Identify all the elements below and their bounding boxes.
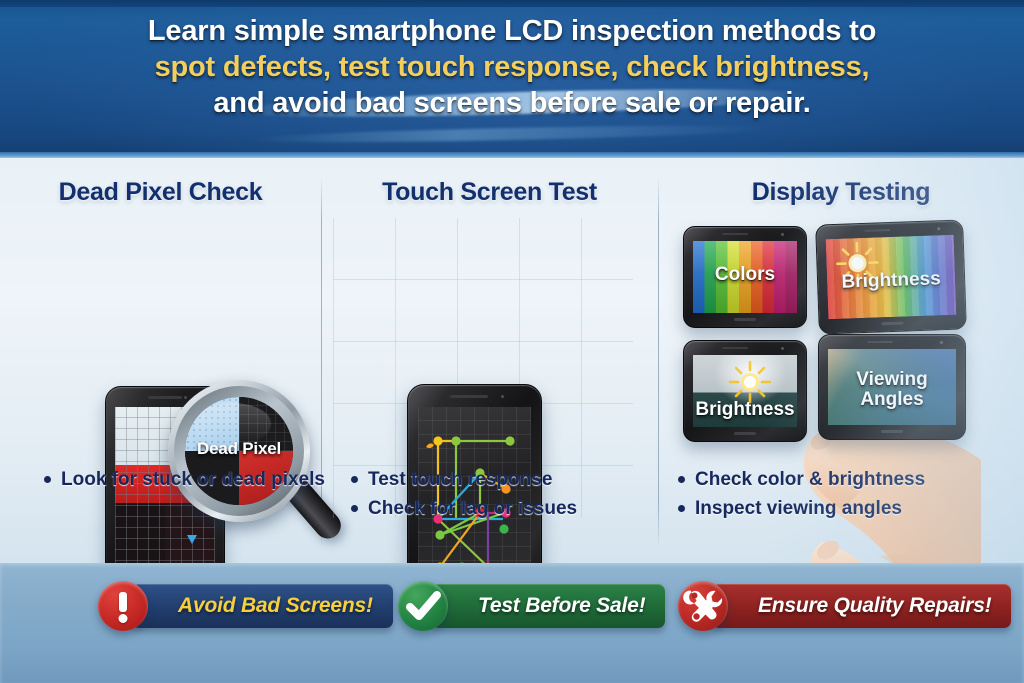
bullet-list-touch: Test touch response Check for lag or iss… [351,468,688,527]
tablet-speaker [722,233,748,235]
tablet-speaker [865,229,891,232]
header-swoosh-decoration-2 [250,123,770,146]
content-area: Dead Pixel Check [0,158,1024,563]
tablet-label-brightness-grey: Brightness [693,400,797,420]
wrench-screwdriver-glyph [678,581,728,631]
list-item: Test touch response [351,468,688,492]
bullet-text: Test touch response [368,468,552,492]
tablet-brightness-color: Brightness [815,219,967,334]
tablet-colors: Colors [683,226,807,328]
header-line-2: spot defects, test touch response, check… [0,50,1024,86]
tablet-speaker [722,347,748,349]
tablet-screen-brightness-color: Brightness [826,235,957,319]
bullet-dot-icon [678,505,685,512]
tablet-screen-colors: Colors [693,241,797,313]
magnifying-glass-icon: Dead Pixel [168,380,310,522]
bullet-text: Inspect viewing angles [695,497,902,521]
tablet-camera-icon [781,347,784,350]
bullet-list-dead-pixel: Look for stuck or dead pixels [44,468,365,497]
badge-pill[interactable]: Test Before Sale! [432,584,665,628]
phone-camera-icon [501,395,504,398]
bullet-dot-icon [351,505,358,512]
list-item: Check for lag or issues [351,497,688,521]
magnifier-outer-ring: Dead Pixel [168,380,310,522]
bullet-text: Look for stuck or dead pixels [61,468,325,492]
bullet-dot-icon [351,476,358,483]
tablet-camera-icon [940,341,943,344]
tablet-camera-icon [937,227,940,230]
phone-speaker [450,395,488,398]
badge-pill[interactable]: Ensure Quality Repairs! [712,584,1011,628]
badge-label: Test Before Sale! [478,594,645,618]
tablet-label-colors: Colors [693,265,797,285]
exclamation-bar [119,592,127,612]
tablet-label-viewing-angles: Viewing Angles [828,370,956,410]
tablet-speaker [867,341,893,343]
header-line-3: and avoid bad screens before sale or rep… [0,86,1024,122]
list-item: Look for stuck or dead pixels [44,468,365,492]
column-title-dead-pixel: Dead Pixel Check [0,178,321,207]
list-item: Check color & brightness [678,468,1024,492]
tablet-brightness-grey: Brightness [683,340,807,442]
exclamation-icon [98,581,148,631]
tablet-screen-viewing-angles: Viewing Angles [828,349,956,425]
header-line-1: Learn simple smartphone LCD inspection m… [0,14,1024,50]
tablet-screen-brightness-grey: Brightness [693,355,797,427]
tablet-home-button [734,318,756,321]
dead-pixel-pointer-icon [187,535,197,544]
tablet-home-button [734,432,756,435]
tablet-home-button [881,430,903,433]
header-title-block: Learn simple smartphone LCD inspection m… [0,14,1024,122]
bullet-dot-icon [678,476,685,483]
column-dead-pixel-check: Dead Pixel Check [0,158,321,563]
bullet-text: Check color & brightness [695,468,925,492]
badge-label: Ensure Quality Repairs! [758,594,991,618]
bullet-text: Check for lag or issues [368,497,577,521]
tools-icon [678,581,728,631]
column-title-touch-screen: Touch Screen Test [321,178,658,207]
tablet-viewing-angles: Viewing Angles [818,334,966,440]
checkmark-glyph [398,581,448,631]
tablet-camera-icon [781,233,784,236]
footer-banner: Avoid Bad Screens! Test Before Sale! Ens… [0,563,1024,683]
dead-pixel-label: Dead Pixel [185,439,293,459]
exclamation-dot [119,614,128,623]
column-touch-screen-test: Touch Screen Test [321,158,658,563]
infographic-poster: Learn simple smartphone LCD inspection m… [0,0,1024,683]
badge-label: Avoid Bad Screens! [178,594,373,618]
header-banner: Learn simple smartphone LCD inspection m… [0,0,1024,158]
checkmark-icon [398,581,448,631]
tablet-label-brightness-color: Brightness [827,268,956,292]
column-title-display-testing: Display Testing [658,178,1024,207]
bullet-list-display: Check color & brightness Inspect viewing… [678,468,1024,527]
bullet-dot-icon [44,476,51,483]
tablet-home-button [882,322,904,326]
badge-pill[interactable]: Avoid Bad Screens! [132,584,393,628]
list-item: Inspect viewing angles [678,497,1024,521]
